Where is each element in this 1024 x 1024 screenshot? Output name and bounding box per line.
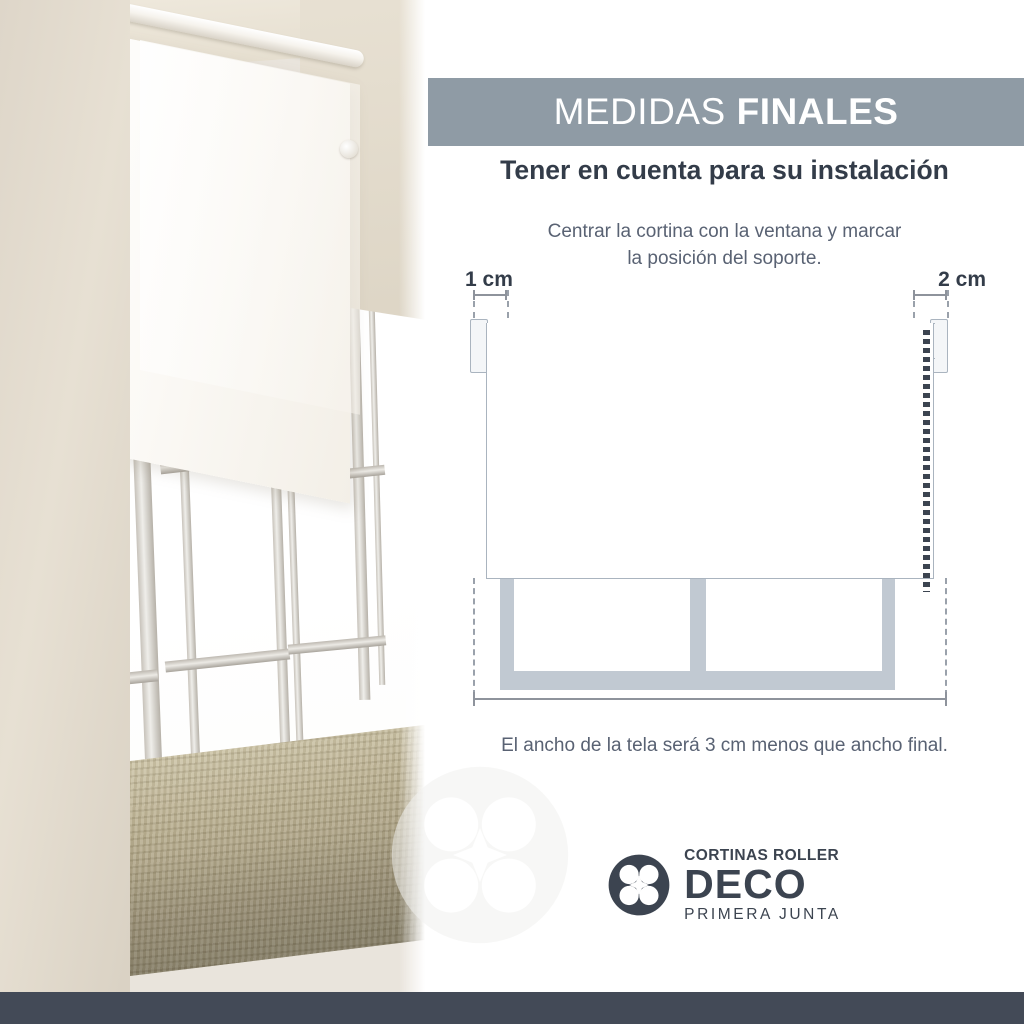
poster-root: MEDIDAS FINALES Tener en cuenta para su …	[0, 0, 1024, 1024]
blind-fabric-highlight	[140, 40, 360, 415]
blind-roller-end-cap	[340, 140, 358, 158]
installation-diagram	[425, 290, 1024, 730]
left-dimension-dash-inner	[507, 290, 509, 318]
right-dimension-dash-outer	[947, 290, 949, 318]
info-panel: MEDIDAS FINALES Tener en cuenta para su …	[425, 0, 1024, 992]
window-pane-right	[706, 578, 882, 671]
right-dimension-tick-a	[913, 290, 915, 300]
final-width-dimension-line	[473, 698, 947, 700]
final-width-tick-left	[473, 692, 475, 706]
brand-logo-text: CORTINAS ROLLER DECO PRIMERA JUNTA	[684, 848, 841, 923]
right-width-extension-dash	[945, 578, 947, 696]
roller-fabric-panel	[486, 323, 934, 579]
page-subtitle: Tener en cuenta para su instalación	[425, 155, 1024, 186]
right-dimension-line	[913, 294, 947, 296]
left-measure-label: 1 cm	[465, 268, 575, 292]
bead-chain	[923, 330, 930, 592]
deco-flower-mark-icon	[608, 854, 670, 916]
brand-logo: CORTINAS ROLLER DECO PRIMERA JUNTA	[425, 840, 1024, 930]
footnote-text: El ancho de la tela será 3 cm menos que …	[425, 735, 1024, 757]
header-title-bold: FINALES	[737, 91, 899, 133]
roller-blind-window-photo	[0, 0, 425, 992]
left-width-extension-dash	[473, 578, 475, 696]
left-wall	[0, 0, 130, 992]
header-banner: MEDIDAS FINALES	[428, 78, 1024, 146]
left-dimension-tick-b	[505, 290, 507, 300]
right-dimension-tick-b	[945, 290, 947, 300]
instruction-line-1: Centrar la cortina con la ventana y marc…	[425, 218, 1024, 245]
brand-tagline-bottom: PRIMERA JUNTA	[684, 907, 841, 923]
left-dimension-line	[473, 294, 507, 296]
instruction-text: Centrar la cortina con la ventana y marc…	[425, 218, 1024, 272]
bottom-bar	[0, 992, 1024, 1024]
final-width-tick-right	[945, 692, 947, 706]
header-title-light: MEDIDAS	[554, 91, 726, 133]
header-title: MEDIDAS FINALES	[428, 78, 1024, 146]
window-pane-left	[514, 578, 690, 671]
brand-name: DECO	[684, 864, 841, 905]
right-measure-label: 2 cm	[876, 268, 986, 292]
left-dimension-tick-a	[473, 290, 475, 300]
